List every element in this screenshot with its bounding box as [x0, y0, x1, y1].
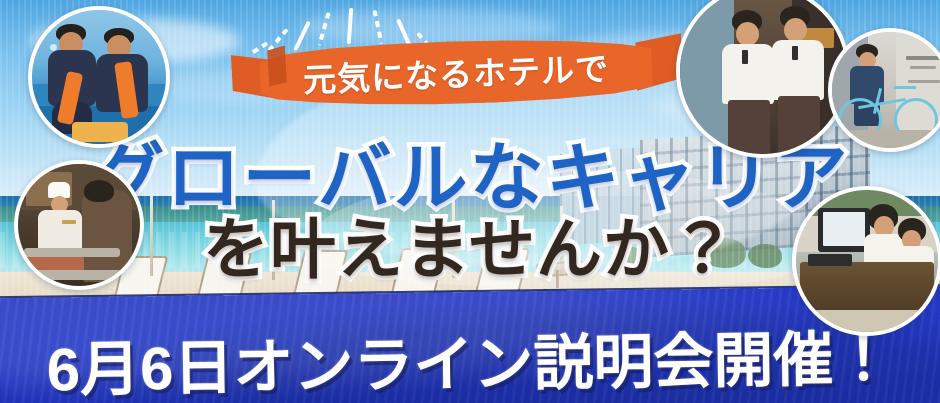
photo-front-desk-receptionists: [792, 186, 940, 336]
ribbon-label: 元気になるホテルで: [259, 32, 653, 111]
recruitment-banner[interactable]: 元気になるホテルで グローバルなキャリア を叶えませんか？ 6月6日オンライン説…: [0, 0, 940, 403]
photo-marine-staff-wetsuits: [28, 6, 170, 148]
photo-marine-staff-wetsuits-image: [32, 10, 166, 144]
photo-staff-with-bicycle: [828, 28, 940, 152]
photo-front-desk-receptionists-image: [796, 190, 938, 332]
photo-chef-grilling-image: [18, 164, 140, 286]
photo-chef-grilling: [14, 160, 144, 290]
photo-hotel-staff-uniforms-image: [680, 0, 846, 154]
orange-ribbon: 元気になるホテルで: [232, 28, 682, 120]
photo-hotel-staff-uniforms: [676, 0, 850, 158]
photo-staff-with-bicycle-image: [832, 32, 940, 148]
